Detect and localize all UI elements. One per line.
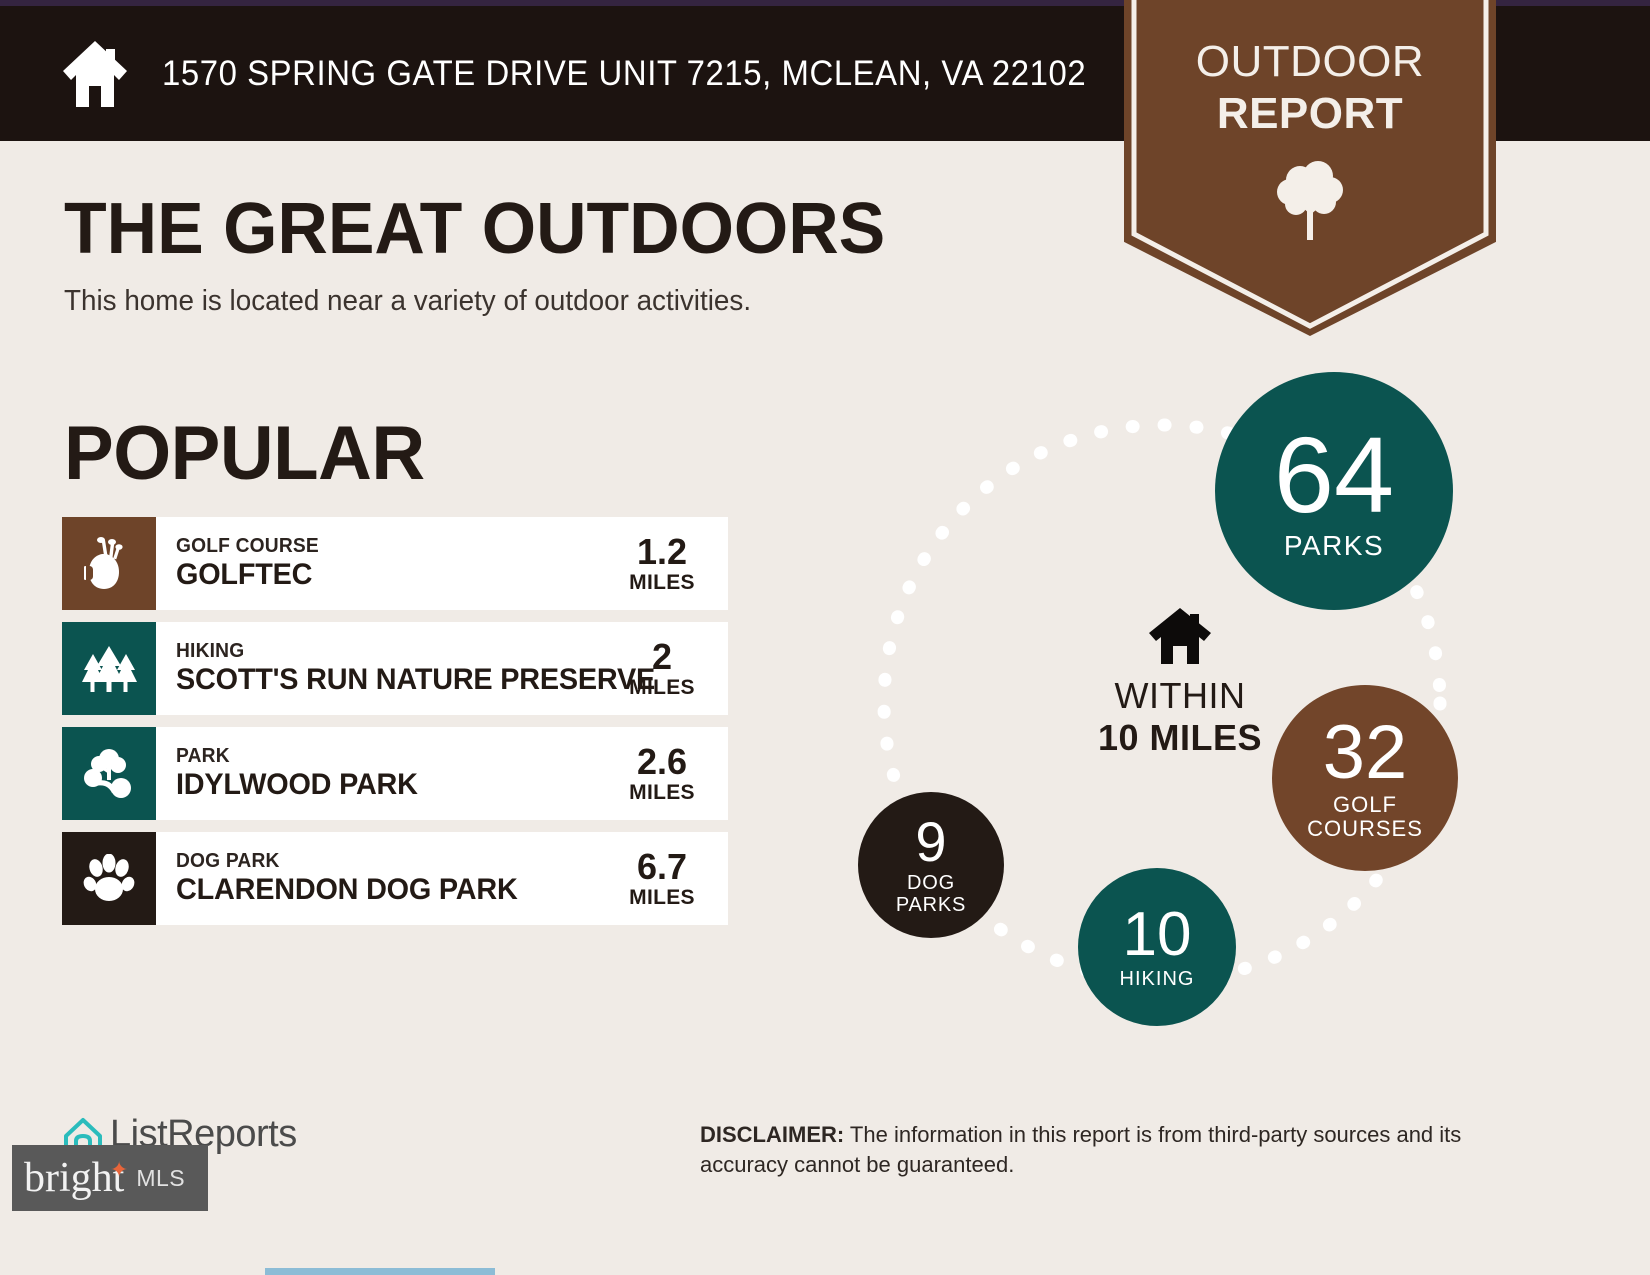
home-icon — [1146, 605, 1214, 667]
list-item[interactable]: PARK IDYLWOOD PARK 2.6 MILES — [62, 727, 728, 820]
list-item-category: HIKING — [176, 640, 593, 662]
stat-bubble-parks[interactable]: 64 PARKS — [1215, 372, 1453, 610]
home-icon — [58, 38, 132, 110]
stat-bubble-dog-parks[interactable]: 9 DOG PARKS — [858, 792, 1004, 938]
list-item[interactable]: DOG PARK CLARENDON DOG PARK 6.7 MILES — [62, 832, 728, 925]
stat-label-line1: DOG — [896, 873, 966, 895]
distance-value: 2.6 — [637, 743, 687, 781]
stat-label-line1: GOLF — [1307, 793, 1423, 817]
star-icon: ✦ — [110, 1159, 128, 1181]
tree-icon — [1270, 152, 1350, 244]
report-badge-line1: OUTDOOR — [1124, 36, 1496, 88]
page-subtitle: This home is located near a variety of o… — [64, 285, 751, 318]
list-item-distance: 1.2 MILES — [610, 517, 728, 610]
cluster-center-line1: WITHIN — [1045, 675, 1315, 717]
cluster-center: WITHIN 10 MILES — [1045, 605, 1315, 759]
report-badge-title: OUTDOOR REPORT — [1124, 36, 1496, 140]
stat-value: 32 — [1323, 715, 1408, 791]
distance-value: 1.2 — [637, 533, 687, 571]
stat-label: DOG PARKS — [896, 873, 966, 916]
stat-label: PARKS — [1284, 531, 1384, 561]
pine-trees-icon — [81, 644, 137, 694]
list-item[interactable]: HIKING SCOTT'S RUN NATURE PRESERVE 2 MIL… — [62, 622, 728, 715]
list-item-name: GOLFTEC — [176, 557, 593, 593]
stat-value: 10 — [1123, 904, 1192, 966]
popular-list: GOLF COURSE GOLFTEC 1.2 MILES HIKING — [62, 517, 728, 937]
list-item-name: CLARENDON DOG PARK — [176, 872, 593, 908]
list-item-distance: 6.7 MILES — [610, 832, 728, 925]
within-10-miles-cluster: 64 PARKS 32 GOLF COURSES 10 HIKING 9 DOG… — [840, 355, 1520, 1055]
paw-print-icon — [83, 854, 135, 904]
stat-label-line2: PARKS — [896, 895, 966, 917]
stat-value: 64 — [1274, 421, 1394, 529]
stat-bubble-hiking[interactable]: 10 HIKING — [1078, 868, 1236, 1026]
golf-bag-icon — [84, 536, 134, 592]
stat-value: 9 — [915, 814, 946, 870]
popular-heading: POPULAR — [64, 410, 425, 497]
brightmls-logo[interactable]: bright ✦ MLS — [12, 1145, 208, 1211]
list-item-text: GOLF COURSE GOLFTEC — [156, 517, 610, 610]
list-item-text: PARK IDYLWOOD PARK — [156, 727, 610, 820]
park-tile — [62, 727, 156, 820]
cluster-center-line2: 10 MILES — [1045, 717, 1315, 759]
list-item-name: SCOTT'S RUN NATURE PRESERVE — [176, 662, 593, 698]
list-item-category: PARK — [176, 745, 593, 767]
distance-value: 6.7 — [637, 848, 687, 886]
stat-label: GOLF COURSES — [1307, 793, 1423, 841]
brightmls-wordmark: bright ✦ — [24, 1157, 124, 1199]
report-badge-line2: REPORT — [1124, 88, 1496, 140]
bottom-blue-tab — [265, 1268, 495, 1275]
list-item-distance: 2.6 MILES — [610, 727, 728, 820]
list-item-category: GOLF COURSE — [176, 535, 593, 557]
brightmls-suffix: MLS — [136, 1165, 185, 1192]
disclaimer: DISCLAIMER: The information in this repo… — [700, 1120, 1520, 1180]
hiking-tile — [62, 622, 156, 715]
list-item-category: DOG PARK — [176, 850, 593, 872]
stat-label: HIKING — [1120, 969, 1195, 991]
stat-label-line2: COURSES — [1307, 817, 1423, 841]
list-item-text: HIKING SCOTT'S RUN NATURE PRESERVE — [156, 622, 610, 715]
golf-course-tile — [62, 517, 156, 610]
list-item-text: DOG PARK CLARENDON DOG PARK — [156, 832, 610, 925]
distance-unit: MILES — [629, 571, 695, 595]
disclaimer-label: DISCLAIMER: — [700, 1122, 844, 1147]
distance-unit: MILES — [629, 781, 695, 805]
park-tree-path-icon — [83, 748, 135, 800]
page-title: THE GREAT OUTDOORS — [64, 188, 885, 270]
property-address: 1570 SPRING GATE DRIVE UNIT 7215, MCLEAN… — [162, 54, 1086, 94]
list-item[interactable]: GOLF COURSE GOLFTEC 1.2 MILES — [62, 517, 728, 610]
list-item-name: IDYLWOOD PARK — [176, 767, 593, 803]
distance-unit: MILES — [629, 886, 695, 910]
dog-park-tile — [62, 832, 156, 925]
